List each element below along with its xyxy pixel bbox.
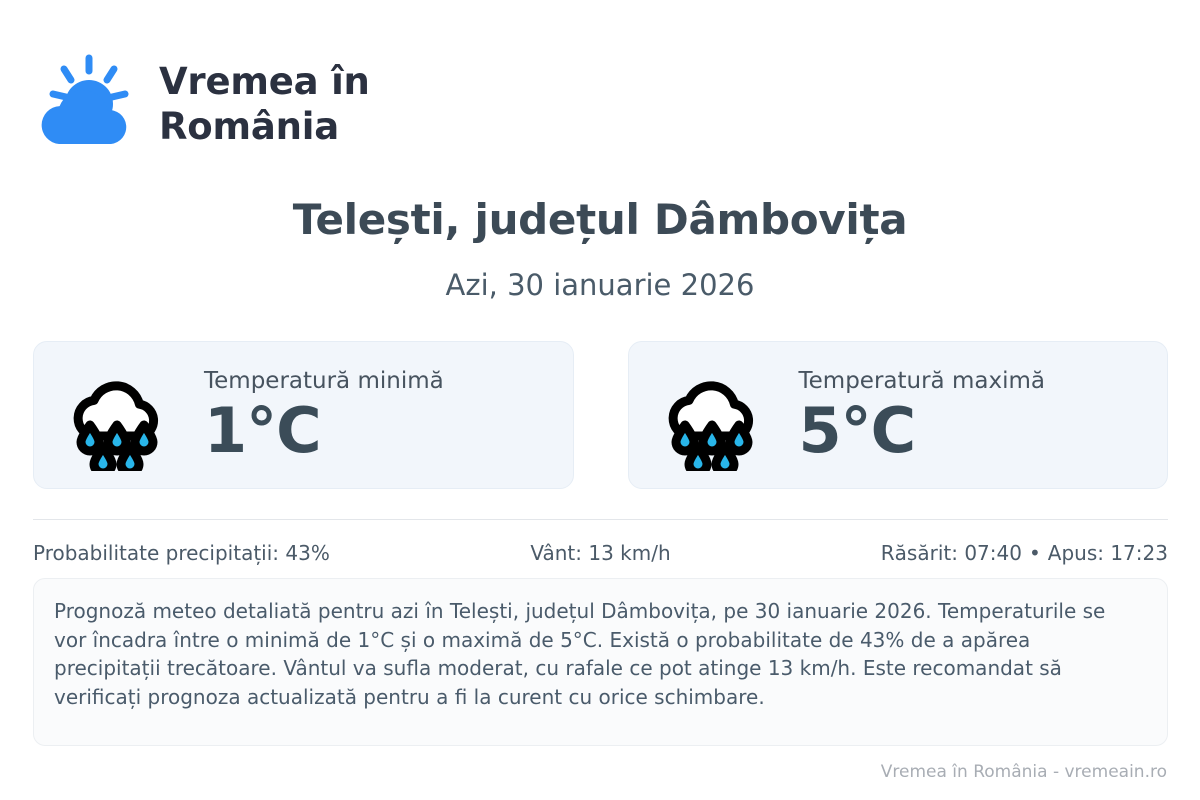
max-temperature-label: Temperatură maximă xyxy=(799,366,1045,396)
max-temperature-value: 5°C xyxy=(799,396,916,466)
sun-behind-cloud-icon xyxy=(33,52,137,156)
rain-cloud-icon xyxy=(655,359,779,471)
min-temperature-text: Temperatură minimă 1°C xyxy=(204,364,444,466)
max-temperature-card: Temperatură maximă 5°C xyxy=(628,341,1169,489)
min-temperature-label: Temperatură minimă xyxy=(204,366,444,396)
max-temperature-text: Temperatură maximă 5°C xyxy=(799,364,1045,466)
weather-stats-row: Probabilitate precipitații: 43% Vânt: 13… xyxy=(33,538,1168,568)
rain-cloud-icon xyxy=(60,359,184,471)
page-title: Telești, județul Dâmbovița xyxy=(0,194,1200,246)
page-subtitle-date: Azi, 30 ianuarie 2026 xyxy=(0,266,1200,304)
wind-stat: Vânt: 13 km/h xyxy=(411,538,789,568)
precipitation-stat: Probabilitate precipitații: 43% xyxy=(33,538,411,568)
footer-attribution: Vremea în România - vremeain.ro xyxy=(881,760,1167,784)
forecast-description-box: Prognoză meteo detaliată pentru azi în T… xyxy=(33,578,1168,746)
min-temperature-card: Temperatură minimă 1°C xyxy=(33,341,574,489)
brand-name: Vremea în România xyxy=(159,59,370,149)
forecast-description-text: Prognoză meteo detaliată pentru azi în T… xyxy=(54,597,1143,711)
sunrise-time: Răsărit: 07:40 xyxy=(881,541,1022,565)
site-logo[interactable]: Vremea în România xyxy=(33,52,370,156)
sun-times-stat: Răsărit: 07:40•Apus: 17:23 xyxy=(790,538,1168,568)
sunset-time: Apus: 17:23 xyxy=(1048,541,1168,565)
weather-forecast-page: Vremea în România Telești, județul Dâmbo… xyxy=(0,0,1200,800)
min-temperature-value: 1°C xyxy=(204,396,321,466)
stats-divider xyxy=(33,519,1168,520)
temperature-cards: Temperatură minimă 1°C Temp xyxy=(33,341,1168,489)
sun-times-separator: • xyxy=(1022,541,1048,565)
